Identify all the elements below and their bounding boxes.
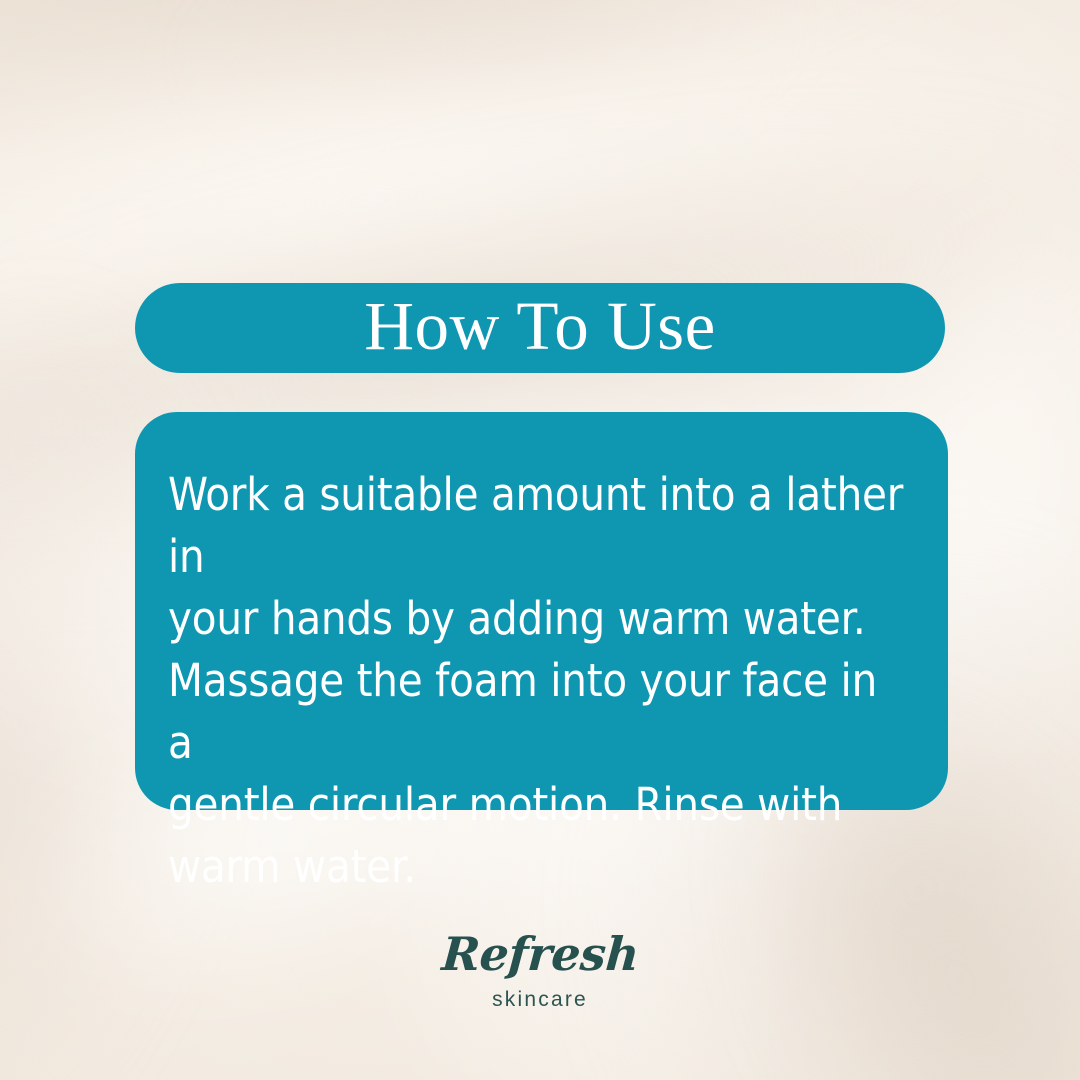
page-title: How To Use (364, 292, 716, 365)
poster-canvas: How To Use Work a suitable amount into a… (0, 0, 1080, 1080)
instructions-line: gentle circular motion. Rinse with (168, 774, 912, 836)
instructions-card: Work a suitable amount into a lather in … (135, 412, 948, 810)
instructions-line: your hands by adding warm water. (168, 588, 912, 650)
instructions-line: Massage the foam into your face in a (168, 650, 912, 774)
instructions-line: Work a suitable amount into a lather in (168, 464, 912, 588)
brand-tagline: skincare (492, 988, 588, 1012)
title-banner: How To Use (135, 283, 945, 373)
brand-logo: Refresh skincare (0, 928, 1080, 1012)
brand-name: Refresh (440, 928, 640, 980)
instructions-line: warm water. (168, 836, 912, 898)
